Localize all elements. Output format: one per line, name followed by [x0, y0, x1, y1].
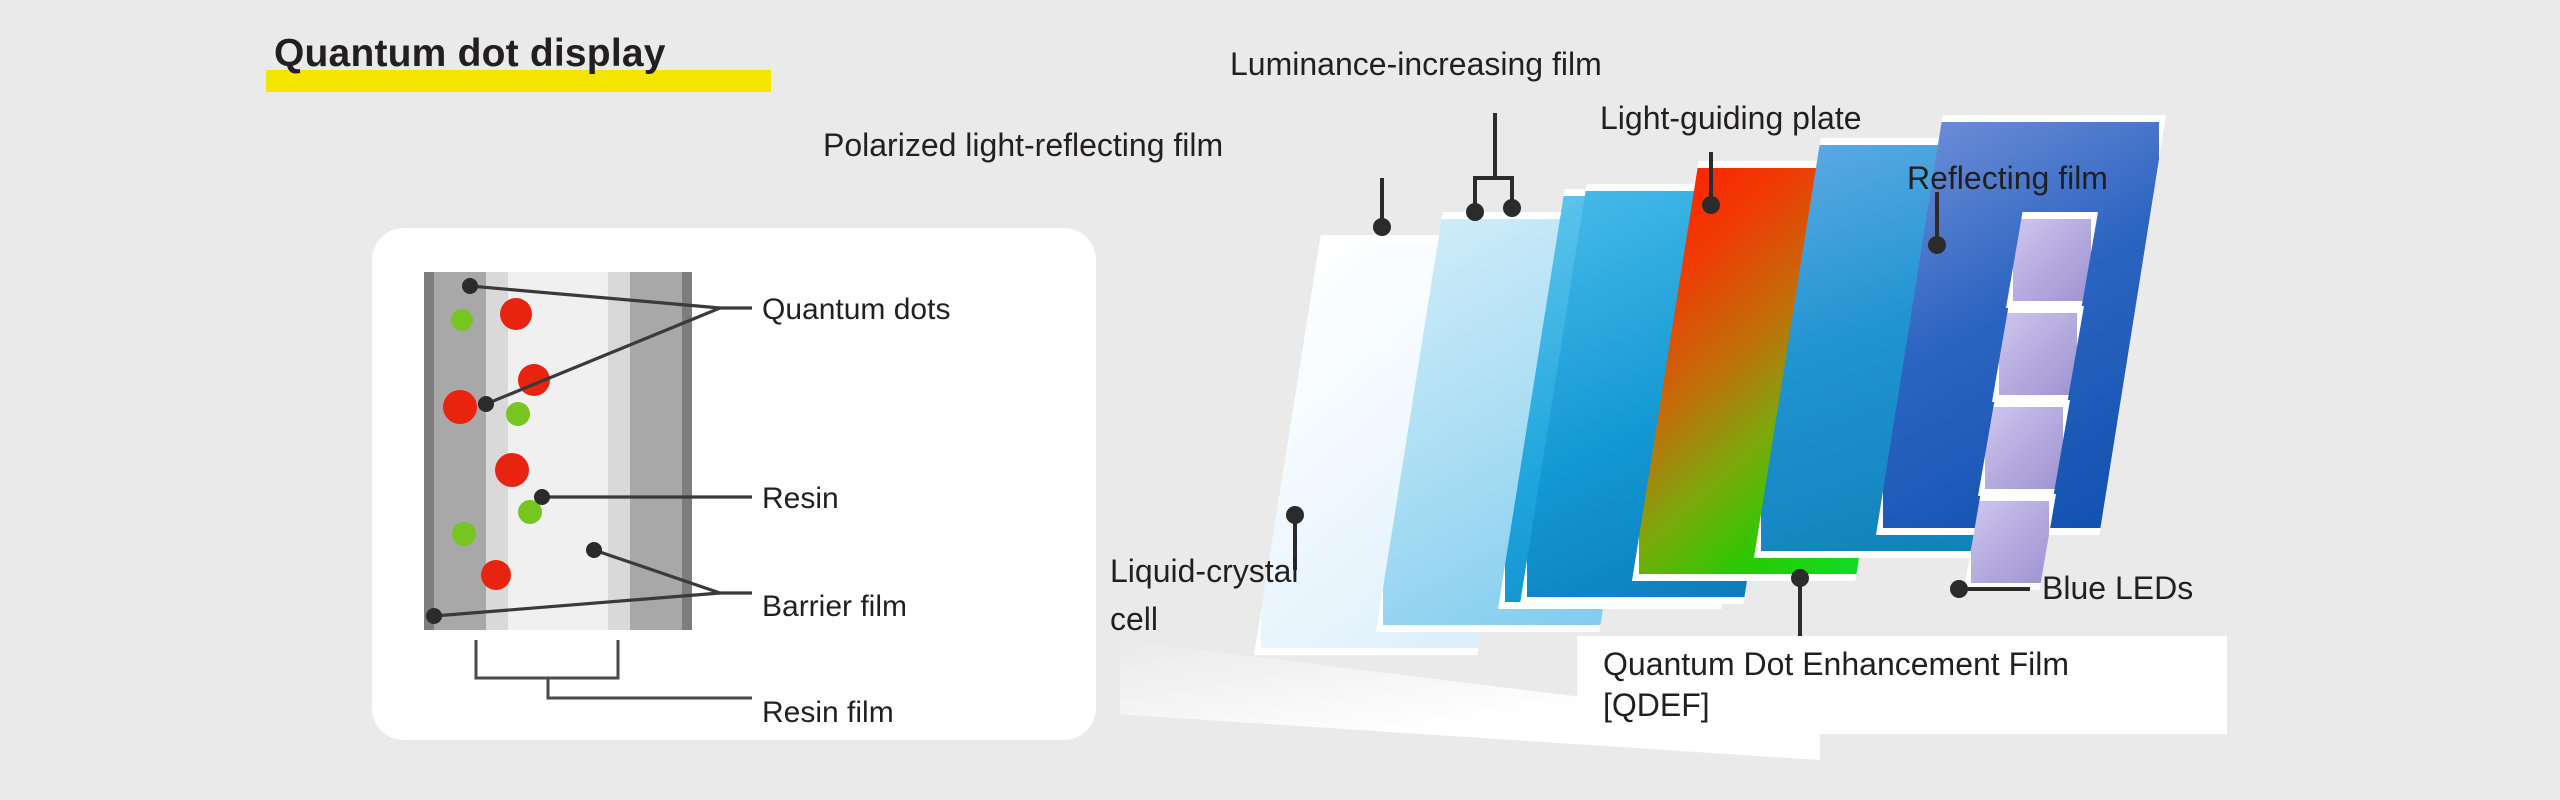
label-liquid-crystal-cell-line1: Liquid-crystal	[1110, 553, 1299, 590]
qdef-callout-text: Quantum Dot Enhancement Film [QDEF]	[1603, 644, 2069, 726]
diagram-canvas: Quantum dot display	[0, 0, 2560, 800]
label-polarized-light-reflecting-film: Polarized light-reflecting film	[823, 127, 1223, 164]
label-qdef-line1: Quantum Dot Enhancement Film	[1603, 644, 2069, 685]
label-qdef-line2: [QDEF]	[1603, 685, 2069, 726]
label-luminance-increasing-film: Luminance-increasing film	[1230, 46, 1602, 83]
label-light-guiding-plate: Light-guiding plate	[1600, 100, 1862, 137]
label-liquid-crystal-cell-line2: cell	[1110, 601, 1158, 638]
label-reflecting-film: Reflecting film	[1907, 160, 2108, 197]
label-blue-leds: Blue LEDs	[2042, 570, 2193, 607]
